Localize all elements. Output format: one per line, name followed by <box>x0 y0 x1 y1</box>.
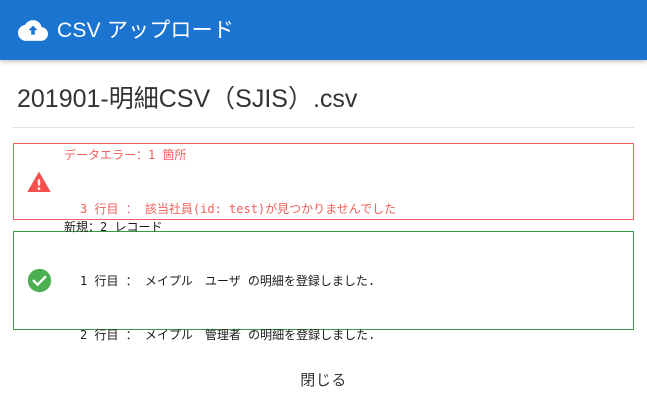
cloud-upload-icon <box>18 18 48 42</box>
error-icon-wrapper <box>14 171 64 193</box>
success-detail-line-2: 2 行目 ： メイプル 管理者 の明細を登録しました. <box>64 326 633 344</box>
app-header: CSV アップロード <box>0 0 647 60</box>
app-title: CSV アップロード <box>57 20 234 41</box>
success-summary-line: 新規：2 レコード <box>64 218 633 236</box>
error-summary-line: データエラー：1 箇所 <box>64 146 633 164</box>
success-icon-wrapper <box>14 268 64 293</box>
close-button[interactable]: 閉じる <box>284 363 363 396</box>
success-message-text: 新規：2 レコード 1 行目 ： メイプル ユーザ の明細を登録しました. 2 … <box>64 182 633 380</box>
dialog-footer: 閉じる <box>0 355 647 404</box>
check-circle-icon <box>27 268 52 293</box>
warning-triangle-icon <box>27 171 51 193</box>
success-message-panel: 新規：2 レコード 1 行目 ： メイプル ユーザ の明細を登録しました. 2 … <box>13 231 634 330</box>
success-detail-line-1: 1 行目 ： メイプル ユーザ の明細を登録しました. <box>64 272 633 290</box>
